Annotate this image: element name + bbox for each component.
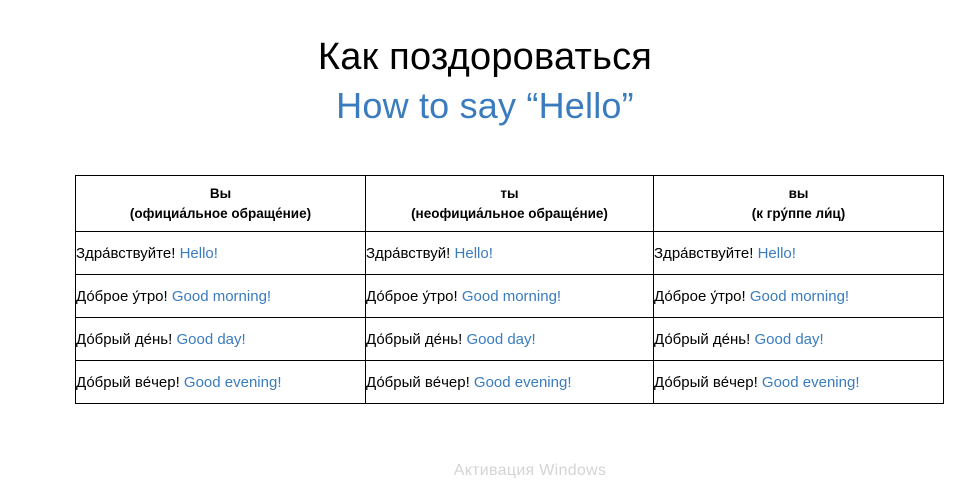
column-header-plural-pronoun: вы (654, 184, 943, 204)
phrase-english: Hello! (758, 245, 796, 262)
phrase-russian: Здра́вствуй! (366, 245, 450, 262)
table-cell: Здра́вствуйте! Hello! (654, 232, 944, 275)
slide-canvas: Как поздороваться How to say “Hello” Вы … (0, 0, 970, 496)
slide-title-block: Как поздороваться How to say “Hello” (0, 34, 970, 130)
greetings-table: Вы (официа́льное обраще́ние) ты (неофици… (75, 175, 944, 404)
phrase-english: Hello! (455, 245, 493, 262)
table-row: До́брый ве́чер! Good evening! До́брый ве… (76, 361, 944, 404)
phrase-english: Good evening! (184, 374, 282, 391)
table-header-row: Вы (официа́льное обраще́ние) ты (неофици… (76, 176, 944, 232)
phrase-russian: До́брое у́тро! (366, 288, 458, 305)
table-cell: Здра́вствуйте! Hello! (76, 232, 366, 275)
phrase-russian: До́брый ве́чер! (76, 374, 180, 391)
page-title-english: How to say “Hello” (0, 82, 970, 131)
phrase-english: Good morning! (750, 288, 849, 305)
column-header-plural: вы (к гру́ппе ли́ц) (654, 176, 944, 232)
page-title-russian: Как поздороваться (0, 34, 970, 82)
phrase-english: Good morning! (462, 288, 561, 305)
table-cell: До́брый де́нь! Good day! (76, 318, 366, 361)
phrase-russian: До́брый ве́чер! (654, 374, 758, 391)
phrase-english: Good evening! (474, 374, 572, 391)
column-header-formal: Вы (официа́льное обраще́ние) (76, 176, 366, 232)
windows-activation-watermark: Активация Windows (0, 462, 970, 480)
phrase-russian: Здра́вствуйте! (76, 245, 175, 262)
column-header-informal: ты (неофициа́льное обраще́ние) (366, 176, 654, 232)
table-cell: До́брый ве́чер! Good evening! (366, 361, 654, 404)
table-row: До́брое у́тро! Good morning! До́брое у́т… (76, 275, 944, 318)
phrase-english: Good day! (754, 331, 823, 348)
phrase-english: Hello! (180, 245, 218, 262)
phrase-russian: До́брое у́тро! (76, 288, 168, 305)
table-cell: До́брое у́тро! Good morning! (654, 275, 944, 318)
table-cell: До́брый ве́чер! Good evening! (76, 361, 366, 404)
phrase-english: Good morning! (172, 288, 271, 305)
column-header-formal-pronoun: Вы (76, 184, 365, 204)
phrase-english: Good day! (466, 331, 535, 348)
table-row: Здра́вствуйте! Hello! Здра́вствуй! Hello… (76, 232, 944, 275)
column-header-formal-note: (официа́льное обраще́ние) (76, 204, 365, 224)
table-row: До́брый де́нь! Good day! До́брый де́нь! … (76, 318, 944, 361)
phrase-english: Good day! (176, 331, 245, 348)
phrase-russian: До́брый де́нь! (366, 331, 462, 348)
column-header-informal-note: (неофициа́льное обраще́ние) (366, 204, 653, 224)
phrase-russian: До́брый де́нь! (76, 331, 172, 348)
windows-activation-watermark-text: Активация Windows (454, 462, 607, 480)
table-cell: До́брый де́нь! Good day! (366, 318, 654, 361)
column-header-plural-note: (к гру́ппе ли́ц) (654, 204, 943, 224)
phrase-russian: До́брый де́нь! (654, 331, 750, 348)
phrase-russian: До́брый ве́чер! (366, 374, 470, 391)
column-header-informal-pronoun: ты (366, 184, 653, 204)
phrase-english: Good evening! (762, 374, 860, 391)
table-cell: До́брый ве́чер! Good evening! (654, 361, 944, 404)
table-cell: До́брое у́тро! Good morning! (76, 275, 366, 318)
table-cell: До́брое у́тро! Good morning! (366, 275, 654, 318)
table-cell: До́брый де́нь! Good day! (654, 318, 944, 361)
phrase-russian: Здра́вствуйте! (654, 245, 753, 262)
phrase-russian: До́брое у́тро! (654, 288, 746, 305)
table-cell: Здра́вствуй! Hello! (366, 232, 654, 275)
